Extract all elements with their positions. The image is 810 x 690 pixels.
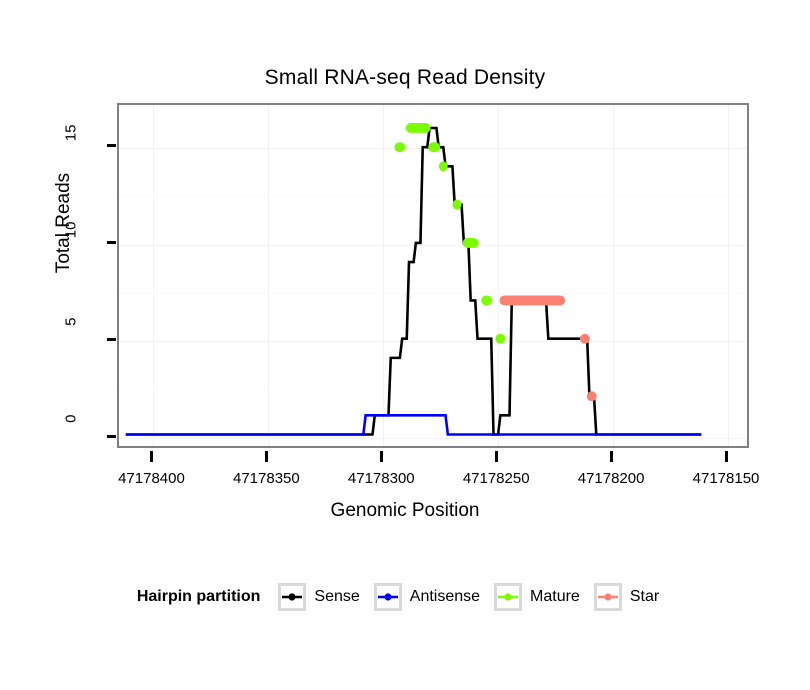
y-tick-label: 10	[63, 221, 80, 261]
data-series-layer	[119, 105, 747, 446]
legend-title: Hairpin partition	[137, 588, 261, 606]
x-tick-label: 47178350	[206, 470, 326, 487]
marker-star	[587, 391, 597, 401]
legend-item-antisense[interactable]: Antisense	[374, 583, 480, 611]
x-tick-mark	[610, 451, 613, 462]
chart-figure: Small RNA-seq Read Density Total Reads G…	[0, 0, 810, 690]
chart-title: Small RNA-seq Read Density	[0, 66, 810, 90]
marker-mature	[406, 123, 431, 133]
x-tick-label: 47178200	[551, 470, 671, 487]
x-tick-label: 47178300	[321, 470, 441, 487]
series-line-sense	[126, 128, 701, 435]
legend-label: Star	[630, 588, 659, 606]
marker-star	[500, 295, 566, 305]
legend-item-mature[interactable]: Mature	[494, 583, 580, 611]
y-tick-label: 0	[63, 415, 80, 455]
legend-key-icon	[494, 583, 522, 611]
legend-label: Antisense	[410, 588, 480, 606]
legend-items: SenseAntisenseMatureStar	[278, 583, 673, 611]
x-tick-mark	[150, 451, 153, 462]
x-tick-label: 47178250	[436, 470, 556, 487]
marker-mature	[439, 161, 448, 171]
legend-key-icon	[278, 583, 306, 611]
marker-mature	[394, 142, 405, 152]
x-tick-mark	[725, 451, 728, 462]
y-tick-label: 15	[63, 124, 80, 164]
legend-item-sense[interactable]: Sense	[278, 583, 359, 611]
series-line-antisense	[126, 415, 701, 434]
x-tick-mark	[495, 451, 498, 462]
marker-mature	[481, 295, 492, 305]
y-tick-label: 5	[63, 318, 80, 358]
legend-label: Sense	[314, 588, 359, 606]
plot-panel	[117, 103, 749, 448]
y-tick-mark	[107, 435, 116, 438]
legend-key-icon	[594, 583, 622, 611]
marker-star	[580, 334, 590, 344]
y-tick-mark	[107, 241, 116, 244]
marker-mature	[428, 142, 440, 152]
marker-mature	[453, 200, 462, 210]
y-tick-mark	[107, 144, 116, 147]
x-tick-mark	[265, 451, 268, 462]
marker-mature	[495, 334, 505, 344]
legend-label: Mature	[530, 588, 580, 606]
x-axis-title: Genomic Position	[0, 500, 810, 522]
legend-item-star[interactable]: Star	[594, 583, 659, 611]
y-tick-mark	[107, 338, 116, 341]
legend-key-icon	[374, 583, 402, 611]
x-tick-mark	[380, 451, 383, 462]
x-tick-label: 47178400	[91, 470, 211, 487]
x-tick-label: 47178150	[666, 470, 786, 487]
chart-legend: Hairpin partition SenseAntisenseMatureSt…	[0, 583, 810, 611]
marker-mature	[463, 238, 479, 248]
